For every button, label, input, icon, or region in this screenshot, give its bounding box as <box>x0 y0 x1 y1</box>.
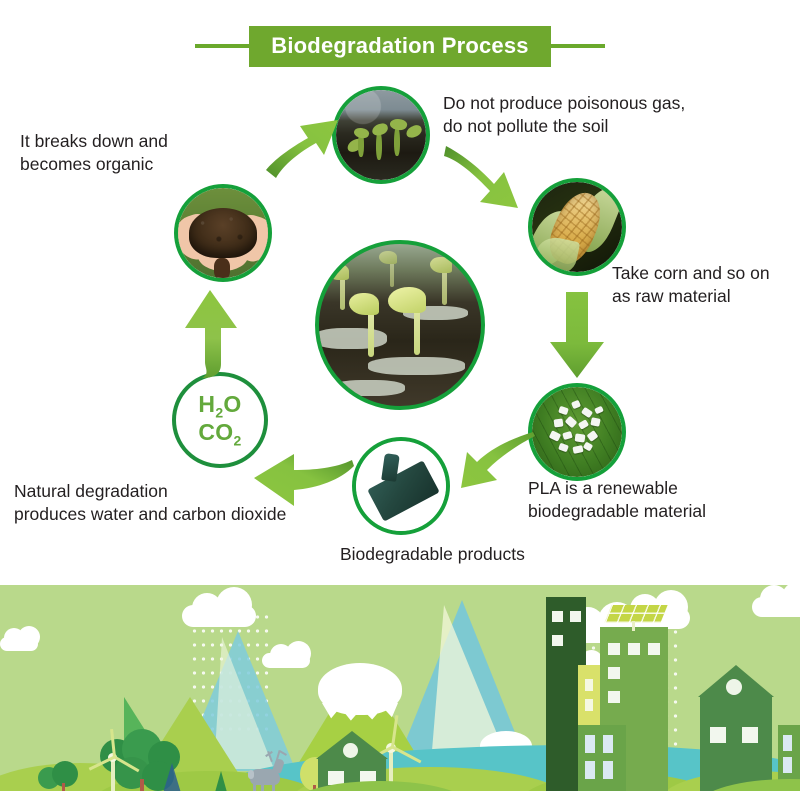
building-small-green <box>578 725 626 791</box>
solar-panel <box>604 605 667 623</box>
cloud-1 <box>182 605 256 627</box>
deer <box>236 753 292 791</box>
step-image-seedlings[interactable] <box>332 86 430 184</box>
arrow-pla-to-products <box>455 430 537 496</box>
step-image-products[interactable] <box>352 437 450 535</box>
infographic-root: Biodegradation Process <box>0 0 800 791</box>
tree-small-left <box>36 761 82 791</box>
cloud-6 <box>0 637 38 651</box>
arrow-organic-to-seedlings <box>264 108 342 180</box>
center-image-germinating-seedlings <box>315 240 485 410</box>
cloud-2 <box>262 653 310 668</box>
house-center <box>700 695 772 791</box>
formula-h2o: H2O <box>198 392 241 420</box>
caption-seedlings: Do not produce poisonous gas, do not pol… <box>443 92 773 139</box>
step-image-organic[interactable] <box>174 184 272 282</box>
cycle-diagram: Do not produce poisonous gas, do not pol… <box>0 0 800 585</box>
tree-pine-center-2 <box>212 771 230 791</box>
caption-corn: Take corn and so on as raw material <box>612 262 800 309</box>
arrow-corn-to-pla <box>548 292 606 380</box>
arrow-products-to-degradation <box>252 452 356 514</box>
caption-organic: It breaks down and becomes organic <box>20 130 250 177</box>
cloud-7 <box>752 597 800 617</box>
house-left-window-round <box>343 743 358 758</box>
caption-pla: PLA is a renewable biodegradable materia… <box>528 477 793 524</box>
caption-products: Biodegradable products <box>340 543 600 566</box>
formula-co2: CO2 <box>198 420 241 448</box>
arrow-degradation-to-organic <box>180 288 240 380</box>
tree-pine-center <box>160 763 184 791</box>
house-center-window-round <box>726 679 742 695</box>
wind-turbine-right <box>78 737 148 791</box>
solar-panel-pole <box>632 621 635 631</box>
step-image-pla[interactable] <box>528 383 626 481</box>
eco-city-landscape-illustration <box>0 585 800 791</box>
arrow-seedlings-to-corn <box>444 140 530 216</box>
